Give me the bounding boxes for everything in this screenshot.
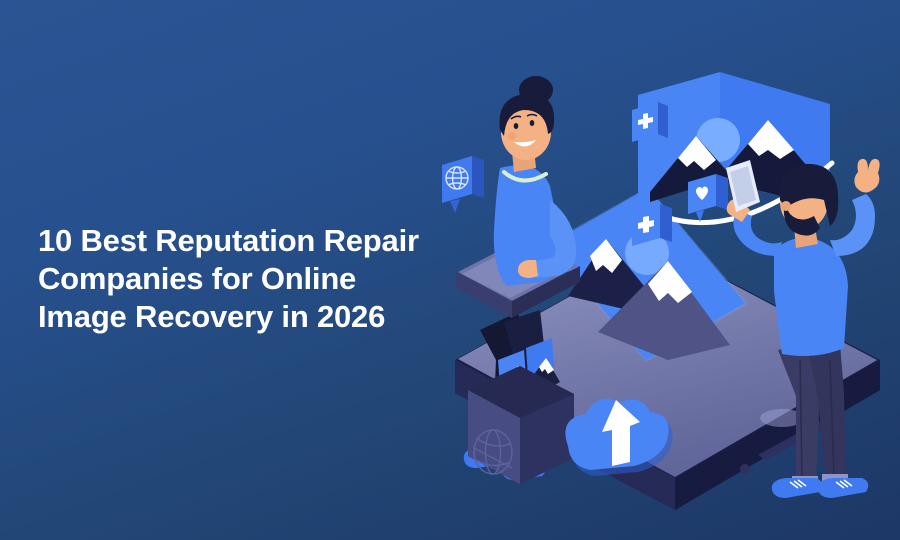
man-hand-peace-sign xyxy=(854,159,879,193)
globe-bubble-badge[interactable] xyxy=(442,156,484,213)
headline-line-1: 10 Best Reputation Repair xyxy=(38,222,458,260)
globe-badge-tail xyxy=(450,199,460,213)
woman-hair-bun xyxy=(519,76,553,104)
headline-line-3: Image Recovery in 2026 xyxy=(38,298,458,336)
plus-badge-upper-side xyxy=(658,102,668,138)
globe-badge-side xyxy=(472,156,484,198)
heart-badge[interactable] xyxy=(688,174,728,222)
hero-illustration xyxy=(400,60,900,540)
man-ear xyxy=(781,201,791,211)
phone-home-button xyxy=(740,464,750,474)
headline-line-2: Companies for Online xyxy=(38,260,458,298)
hero-banner: 10 Best Reputation Repair Companies for … xyxy=(0,0,900,540)
headline-block: 10 Best Reputation Repair Companies for … xyxy=(38,222,458,336)
page-title: 10 Best Reputation Repair Companies for … xyxy=(38,222,458,336)
woman-eye-left xyxy=(514,123,519,129)
man-eye xyxy=(790,191,794,197)
plus-badge-lower[interactable] xyxy=(632,204,672,246)
woman-eye-right xyxy=(530,120,535,126)
heart-badge-side xyxy=(716,174,728,210)
woman-cheek xyxy=(508,132,516,140)
plus-badge-lower-side xyxy=(660,204,672,242)
